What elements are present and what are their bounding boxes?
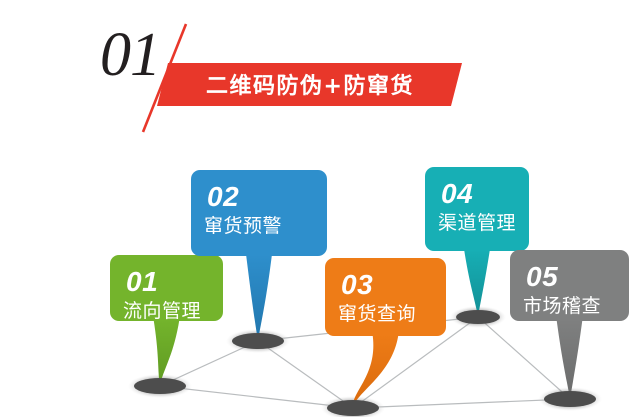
pin-number: 05 xyxy=(526,261,558,292)
pin-base-cap xyxy=(232,333,284,349)
slide-canvas: 01 二维码防伪+防窜货 01流向管理02窜货预警03窜货查询04渠道管理05市… xyxy=(0,0,643,417)
pin-tail xyxy=(246,254,272,341)
pin-label: 窜货查询 xyxy=(338,303,416,325)
pin-label: 渠道管理 xyxy=(438,212,516,234)
connector-line xyxy=(353,399,570,408)
pin-number: 03 xyxy=(341,269,373,300)
pin-base-cap xyxy=(134,378,186,394)
header-banner-text: 二维码防伪+防窜货 xyxy=(206,73,414,99)
pin-base-cap xyxy=(456,310,500,324)
pin-base-cap xyxy=(544,391,596,407)
pin-base-cap xyxy=(327,400,379,416)
infographic-scene: 01 二维码防伪+防窜货 01流向管理02窜货预警03窜货查询04渠道管理05市… xyxy=(0,0,643,417)
section-number: 01 xyxy=(100,21,160,89)
pin-03[interactable]: 03窜货查询 xyxy=(325,258,446,408)
connector-line xyxy=(478,317,570,399)
pin-01[interactable]: 01流向管理 xyxy=(110,255,223,386)
pin-group: 01流向管理02窜货预警03窜货查询04渠道管理05市场稽查 xyxy=(110,167,629,408)
pin-number: 01 xyxy=(126,266,158,297)
pin-05[interactable]: 05市场稽查 xyxy=(510,250,629,399)
pin-label: 窜货预警 xyxy=(204,215,282,237)
header-group: 01 二维码防伪+防窜货 xyxy=(100,21,462,132)
pin-number: 02 xyxy=(207,181,239,212)
pin-label: 流向管理 xyxy=(123,300,201,322)
pin-label: 市场稽查 xyxy=(523,295,601,317)
pin-number: 04 xyxy=(441,178,473,209)
pin-tail xyxy=(557,319,583,399)
